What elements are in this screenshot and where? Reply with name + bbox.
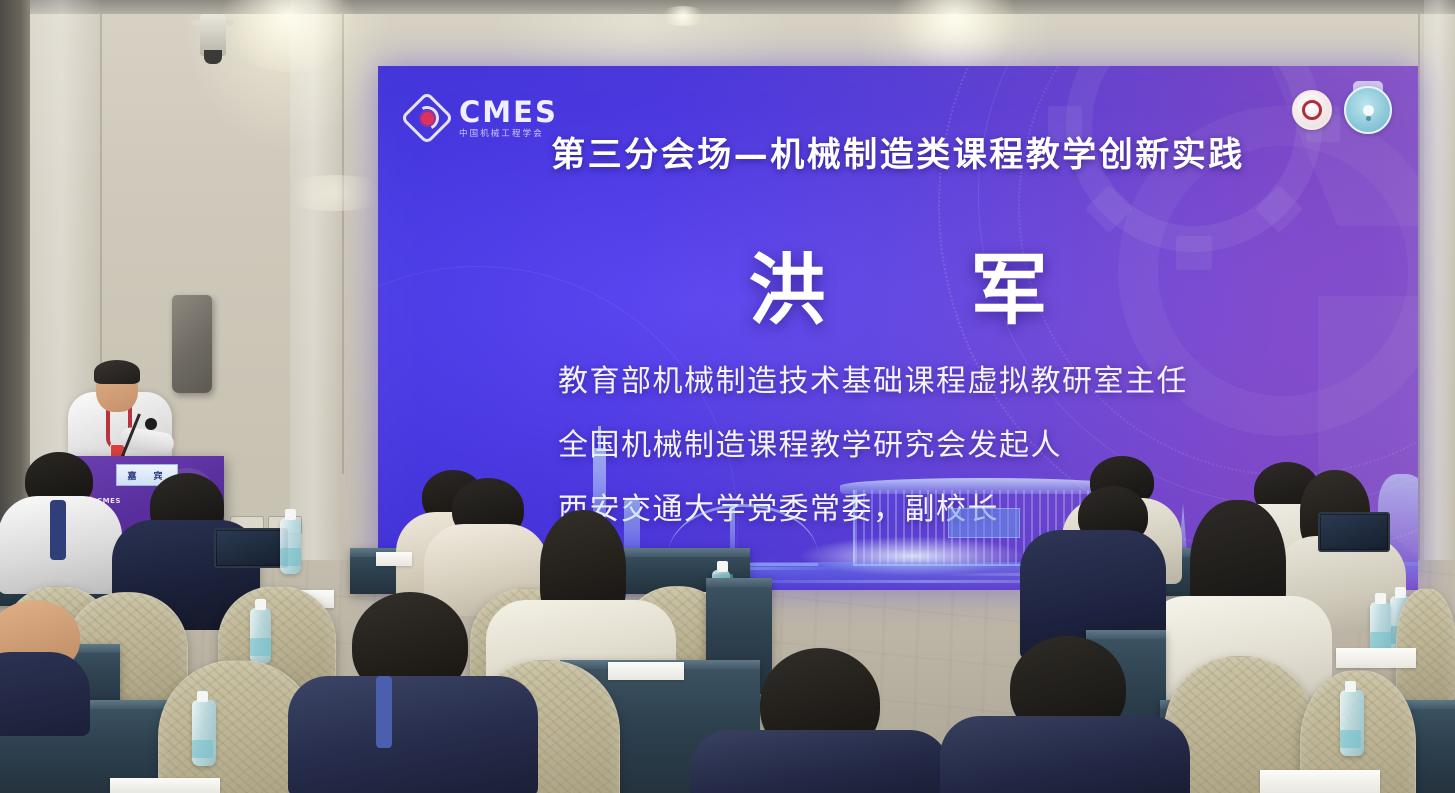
speaker-name: 洪 军 — [378, 229, 1418, 340]
water-bottle — [1340, 690, 1364, 756]
downlight — [660, 6, 706, 26]
session-title: 第三分会场—机械制造类课程教学创新实践 — [378, 127, 1418, 176]
wall-speaker — [172, 295, 212, 393]
lanyard — [50, 500, 66, 560]
chair — [1396, 588, 1455, 704]
conference-room-scene: CMES 中国机械工程学会 第三分会场—机械制造类课程教学创新实践 洪 军 教育… — [0, 0, 1455, 793]
notepad — [376, 552, 412, 566]
wall-seam — [1418, 14, 1420, 574]
notepad — [1336, 648, 1416, 668]
notepad — [1260, 770, 1380, 793]
laptop — [1318, 512, 1390, 552]
laptop — [214, 528, 288, 568]
university-seal-logo-icon — [1292, 90, 1332, 130]
cmes-acronym: CMES — [459, 98, 558, 127]
downlight — [280, 175, 390, 211]
lanyard — [376, 676, 392, 748]
credential-line: 教育部机械制造技术基础课程虚拟教研室主任 — [558, 356, 1258, 400]
wall-seam — [342, 14, 344, 474]
water-bottle — [192, 700, 216, 766]
water-bottle — [280, 518, 301, 574]
notepad — [608, 662, 684, 680]
ceiling-projector — [200, 14, 226, 56]
podium-nameplate-text: 嘉 宾 — [127, 469, 166, 482]
water-bottle — [250, 608, 271, 664]
skyline-hall-window — [948, 508, 1020, 538]
notepad — [110, 778, 220, 793]
speaker-hair — [94, 360, 140, 384]
microphone-head — [145, 418, 157, 430]
